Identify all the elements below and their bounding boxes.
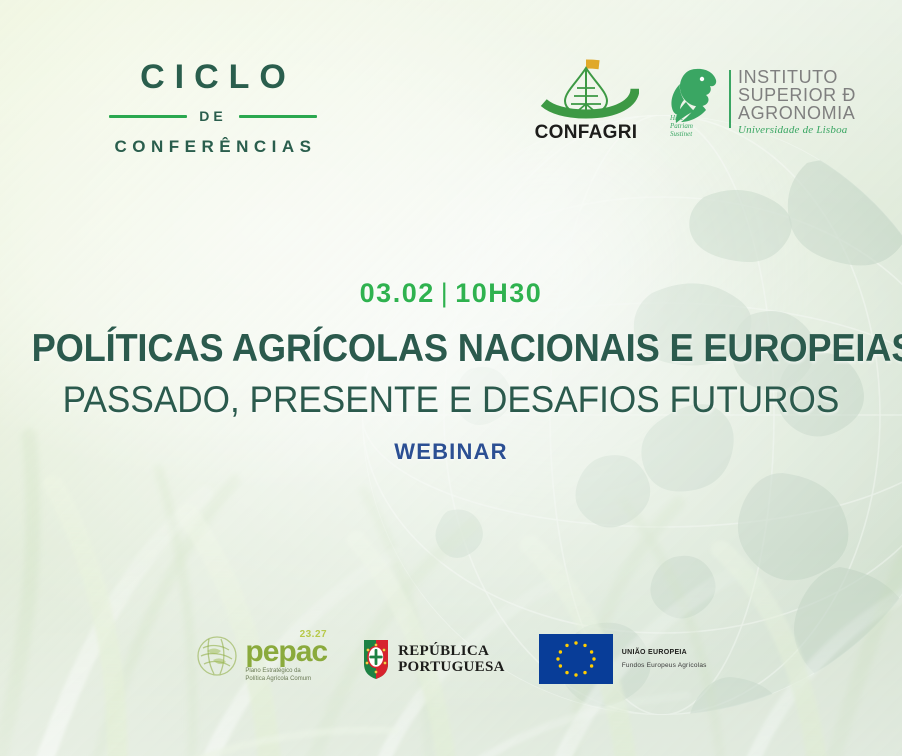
partner-logos-top: CONFAGRI Hinc Patriam Sustinet: [530, 58, 856, 144]
conference-poster: CICLO DE CONFERÊNCIAS CONFAGRI: [0, 0, 902, 756]
event-date: 03.02: [360, 278, 435, 308]
event-format-label: WEBINAR: [0, 439, 902, 465]
eu-line-2: Fundos Europeus Agrícolas: [622, 662, 707, 669]
event-time: 10H30: [455, 278, 542, 308]
confagri-wordmark: CONFAGRI: [530, 122, 642, 144]
confagri-emblem-icon: [533, 58, 639, 120]
pepac-wordmark-block: 23.27 pepac Plano Estratégico da Polític…: [245, 635, 327, 683]
pepac-wordmark: pepac: [245, 639, 327, 665]
ciclo-de-conferencias-lockup: CICLO DE CONFERÊNCIAS: [78, 60, 348, 157]
confagri-logo: CONFAGRI: [530, 58, 642, 144]
conferencias-label: CONFERÊNCIAS: [78, 137, 348, 157]
funder-logos-bottom: 23.27 pepac Plano Estratégico da Polític…: [0, 634, 902, 684]
pepac-logo: 23.27 pepac Plano Estratégico da Polític…: [195, 635, 327, 683]
event-datetime: 03.02|10H30: [0, 278, 902, 309]
pepac-emblem-icon: [195, 635, 239, 677]
instituto-superior-agronomia-logo: Hinc Patriam Sustinet INSTITUTO SUPERIOR…: [666, 66, 856, 136]
isa-line-2: SUPERIOR Ð: [738, 86, 856, 104]
pepac-subtitle-line-1: Plano Estratégico da: [245, 668, 327, 676]
uniao-europeia-logo: UNIÃO EUROPEIA Fundos Europeus Agrícolas: [539, 634, 707, 684]
rp-line-1: REPÚBLICA: [398, 643, 505, 659]
eu-wordmark: UNIÃO EUROPEIA Fundos Europeus Agrícolas: [622, 649, 707, 669]
isa-line-1: INSTITUTO: [738, 68, 856, 86]
ciclo-de-row: DE: [78, 108, 348, 124]
eu-line-1: UNIÃO EUROPEIA: [622, 649, 707, 656]
rule-left: [109, 115, 187, 118]
republica-portuguesa-logo: REPÚBLICA PORTUGUESA: [361, 638, 505, 680]
datetime-separator: |: [435, 278, 456, 308]
event-title-line-2: PASSADO, PRESENTE E DESAFIOS FUTUROS: [23, 379, 880, 421]
pepac-subtitle: Plano Estratégico da Política Agrícola C…: [245, 668, 327, 683]
eu-flag-icon: [539, 634, 613, 684]
event-details: 03.02|10H30 POLÍTICAS AGRÍCOLAS NACIONAI…: [0, 278, 902, 465]
pepac-years: 23.27: [300, 629, 328, 640]
portugal-shield-icon: [361, 638, 391, 680]
isa-line-3: AGRONOMIA: [738, 104, 856, 122]
rp-line-2: PORTUGUESA: [398, 659, 505, 675]
pepac-subtitle-line-2: Política Agrícola Comum: [245, 676, 327, 684]
rule-right: [239, 115, 317, 118]
ciclo-de-label: DE: [199, 108, 226, 124]
isa-motto: Hinc Patriam Sustinet: [670, 114, 693, 138]
ciclo-title: CICLO: [78, 60, 348, 94]
isa-university-label: Universidade de Lisboa: [738, 124, 856, 136]
isa-bird-mark: Hinc Patriam Sustinet: [666, 66, 722, 136]
event-title-line-1: POLÍTICAS AGRÍCOLAS NACIONAIS E EUROPEIA…: [32, 327, 871, 371]
republica-portuguesa-wordmark: REPÚBLICA PORTUGUESA: [398, 643, 505, 675]
isa-divider: [729, 70, 731, 128]
isa-wordmark: INSTITUTO SUPERIOR Ð AGRONOMIA Universid…: [738, 66, 856, 136]
